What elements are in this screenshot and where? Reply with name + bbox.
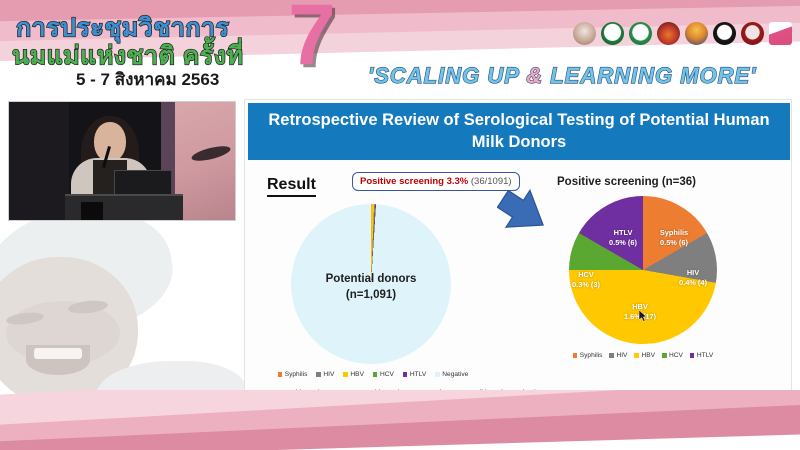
legend-item-hcv-left[interactable]: HCV: [373, 371, 394, 378]
slice-label-htlv: HTLV 0.5% (6): [599, 228, 647, 247]
conference-date-thai: 5 - 7 สิงหาคม 2563: [76, 66, 219, 93]
legend-item-syphilis-right[interactable]: Syphilis: [573, 352, 603, 359]
conference-tagline: 'SCALING UP & LEARNING MORE': [368, 63, 756, 89]
potential-donors-pie-chart: Potential donors (n=1,091) Syphilis HIV …: [277, 204, 465, 386]
presenter-video-panel[interactable]: [8, 101, 236, 221]
stage-wall-left: [9, 102, 69, 221]
sponsor-logo-row: [573, 22, 792, 45]
medical-council-logo: [741, 22, 764, 45]
positive-screening-pie-chart: Positive screening (n=36) Syphilis 0.5% …: [551, 176, 779, 386]
legend-item-negative-left[interactable]: Negative: [435, 371, 468, 378]
legend-item-hiv-right[interactable]: HIV: [609, 352, 627, 359]
department-health-logo: [629, 22, 652, 45]
legend-swatch-hbv: [634, 353, 639, 358]
tagline-part2: LEARNING MORE': [543, 63, 756, 88]
legend-item-htlv-right[interactable]: HTLV: [690, 352, 713, 359]
legend-swatch-syphilis: [278, 372, 283, 377]
legend-swatch-hiv: [609, 353, 614, 358]
child-teeth: [34, 348, 82, 359]
royal-college-logo: [685, 22, 708, 45]
potential-donors-center-label: Potential donors (n=1,091): [277, 272, 465, 303]
callout-fraction: (36/1091): [471, 176, 512, 187]
positive-screening-callout: Positive screening 3.3% (36/1091): [352, 172, 520, 191]
potential-donors-legend: Syphilis HIV HBV HCV HTLV Negative: [291, 371, 455, 378]
tagline-part1: 'SCALING UP: [368, 63, 526, 88]
legend-swatch-htlv: [690, 353, 695, 358]
tagline-ampersand: &: [526, 63, 543, 88]
slice-label-hcv: HCV 0.3% (3): [565, 270, 607, 289]
presentation-slide[interactable]: Retrospective Review of Serological Test…: [244, 99, 792, 408]
slice-label-hiv-value: 0.4% (4): [671, 278, 715, 288]
legend-label-hbv: HBV: [641, 352, 655, 359]
slice-label-hcv-value: 0.3% (3): [565, 280, 607, 290]
legend-swatch-negative: [435, 372, 440, 377]
ministry-health-logo: [601, 22, 624, 45]
legend-label-htlv: HTLV: [697, 352, 713, 359]
slice-label-syphilis-value: 0.5% (6): [647, 238, 701, 248]
slice-label-htlv-name: HTLV: [599, 228, 647, 238]
slice-label-hiv-name: HIV: [671, 268, 715, 278]
legend-label-htlv: HTLV: [410, 371, 426, 378]
presenter-head: [94, 122, 126, 162]
legend-label-syphilis: Syphilis: [285, 371, 308, 378]
mouse-cursor-icon: [639, 310, 648, 322]
slice-label-hcv-name: HCV: [565, 270, 607, 280]
positive-screening-legend: Syphilis HIV HBV HCV HTLV: [569, 352, 717, 359]
slide-title: Retrospective Review of Serological Test…: [248, 103, 790, 160]
slice-label-syphilis-name: Syphilis: [647, 228, 701, 238]
potential-donors-label-line2: (n=1,091): [277, 288, 465, 304]
legend-item-htlv-left[interactable]: HTLV: [403, 371, 426, 378]
university-logo: [713, 22, 736, 45]
laptop-on-podium: [114, 170, 172, 196]
royal-emblem-logo: [573, 22, 596, 45]
legend-label-syphilis: Syphilis: [580, 352, 603, 359]
legend-item-syphilis-left[interactable]: Syphilis: [278, 371, 308, 378]
slice-label-syphilis: Syphilis 0.5% (6): [647, 228, 701, 247]
legend-swatch-hcv: [662, 353, 667, 358]
callout-percentage: Positive screening 3.3%: [360, 176, 468, 187]
legend-label-hcv: HCV: [380, 371, 394, 378]
footer-pink-bands: [0, 390, 800, 450]
legend-label-hbv: HBV: [350, 371, 364, 378]
legend-label-hiv: HIV: [323, 371, 334, 378]
legend-swatch-syphilis: [573, 353, 578, 358]
legend-label-hcv: HCV: [669, 352, 683, 359]
legend-item-hbv-left[interactable]: HBV: [343, 371, 364, 378]
positive-screening-chart-title: Positive screening (n=36): [557, 176, 696, 188]
result-heading: Result: [267, 176, 316, 197]
slide-video-screenshot: การประชุมวิชาการ นมแม่แห่งชาติ ครั้งที่ …: [0, 0, 800, 450]
conference-edition-number: 7: [288, 0, 336, 78]
potential-donors-label-line1: Potential donors: [277, 272, 465, 288]
legend-item-hbv-right[interactable]: HBV: [634, 352, 655, 359]
slice-label-hiv: HIV 0.4% (4): [671, 268, 715, 287]
slice-label-htlv-value: 0.5% (6): [599, 238, 647, 248]
legend-item-hiv-left[interactable]: HIV: [316, 371, 334, 378]
projection-screen-face: [175, 102, 236, 221]
legend-swatch-hbv: [343, 372, 348, 377]
legend-swatch-hcv: [373, 372, 378, 377]
thaihealth-sss-logo: [769, 22, 792, 45]
legend-label-negative: Negative: [442, 371, 468, 378]
legend-swatch-htlv: [403, 372, 408, 377]
blue-arrow-icon: [497, 188, 549, 236]
thai-pediatric-logo: [657, 22, 680, 45]
legend-label-hiv: HIV: [616, 352, 627, 359]
legend-item-hcv-right[interactable]: HCV: [662, 352, 683, 359]
podium-front-panel: [81, 202, 103, 221]
legend-swatch-hiv: [316, 372, 321, 377]
background-child-photo: [0, 205, 250, 420]
conference-header-banner: การประชุมวิชาการ นมแม่แห่งชาติ ครั้งที่ …: [0, 0, 800, 95]
